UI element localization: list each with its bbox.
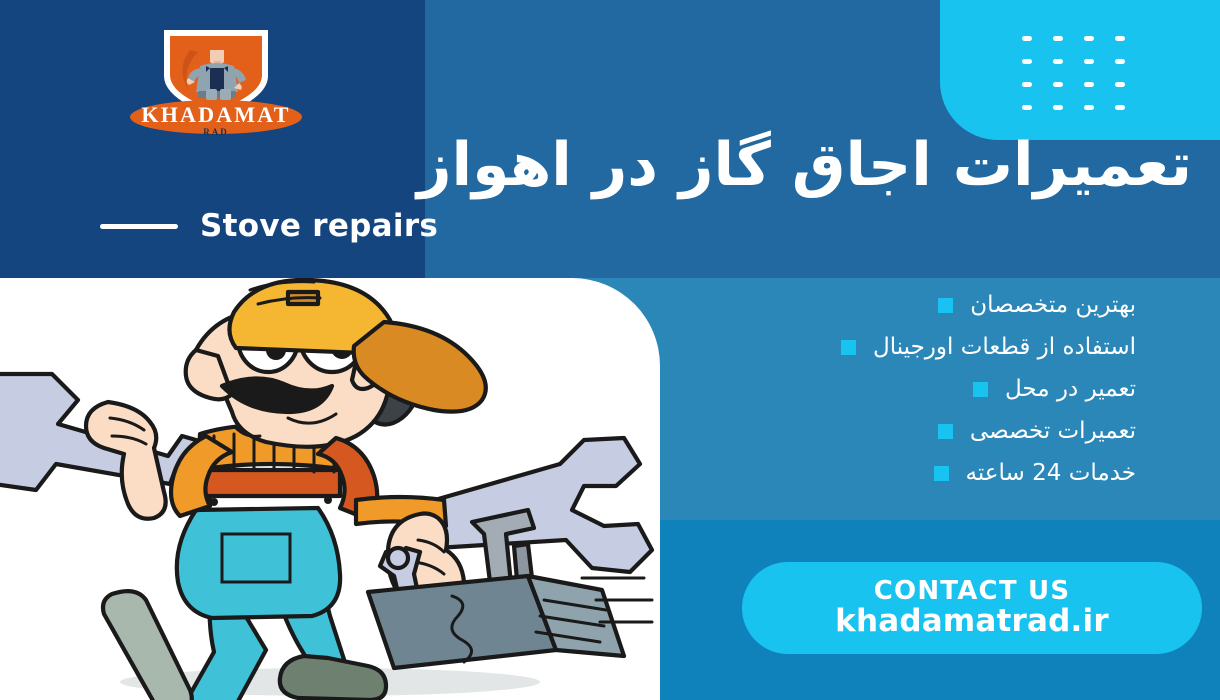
page-title: تعمیرات اجاق گاز در اهواز — [192, 134, 1192, 197]
dot — [1053, 59, 1063, 64]
handyman-illustration: .ol { stroke:#1a1a1a; stroke-width:4.2; … — [0, 278, 660, 700]
dot — [1022, 59, 1032, 64]
page-subtitle: Stove repairs — [200, 208, 438, 244]
dot-grid-decoration — [1022, 36, 1146, 128]
feature-label: تعمیر در محل — [1005, 376, 1136, 402]
dot — [1084, 36, 1094, 41]
bullet-square-icon — [938, 424, 953, 439]
dot — [1053, 82, 1063, 87]
contact-button[interactable]: CONTACT US khadamatrad.ir — [742, 562, 1202, 654]
bullet-square-icon — [841, 340, 856, 355]
contact-url: khadamatrad.ir — [835, 605, 1109, 638]
dot — [1115, 36, 1125, 41]
dot — [1084, 82, 1094, 87]
feature-label: تعمیرات تخصصی — [970, 418, 1136, 444]
list-item: بهترین متخصصان — [656, 286, 1136, 324]
brand-logo[interactable]: KHADAMAT RAD — [128, 16, 304, 136]
feature-list: بهترین متخصصان استفاده از قطعات اورجینال… — [656, 286, 1136, 496]
dot — [1053, 105, 1063, 110]
feature-label: استفاده از قطعات اورجینال — [873, 334, 1136, 360]
dot — [1084, 59, 1094, 64]
brand-logo-mark: KHADAMAT RAD — [128, 16, 304, 136]
dot — [1022, 82, 1032, 87]
subtitle-group: Stove repairs — [100, 208, 438, 244]
dot — [1022, 105, 1032, 110]
bullet-square-icon — [973, 382, 988, 397]
brand-logo-wordmark: KHADAMAT — [141, 102, 290, 127]
list-item: خدمات 24 ساعته — [656, 454, 1136, 492]
list-item: تعمیر در محل — [656, 370, 1136, 408]
dot — [1115, 82, 1125, 87]
dot — [1115, 59, 1125, 64]
dot — [1022, 36, 1032, 41]
feature-label: بهترین متخصصان — [970, 292, 1136, 318]
list-item: استفاده از قطعات اورجینال — [656, 328, 1136, 366]
contact-label: CONTACT US — [874, 577, 1071, 605]
illustration-stage: .ol { stroke:#1a1a1a; stroke-width:4.2; … — [0, 278, 660, 700]
dot — [1084, 105, 1094, 110]
divider-dash-icon — [100, 224, 178, 229]
bullet-square-icon — [938, 298, 953, 313]
feature-label: خدمات 24 ساعته — [966, 460, 1136, 486]
poster-canvas: KHADAMAT RAD تعمیرات اجاق گاز در اهواز S… — [0, 0, 1220, 700]
list-item: تعمیرات تخصصی — [656, 412, 1136, 450]
dot — [1053, 36, 1063, 41]
dot — [1115, 105, 1125, 110]
bullet-square-icon — [934, 466, 949, 481]
